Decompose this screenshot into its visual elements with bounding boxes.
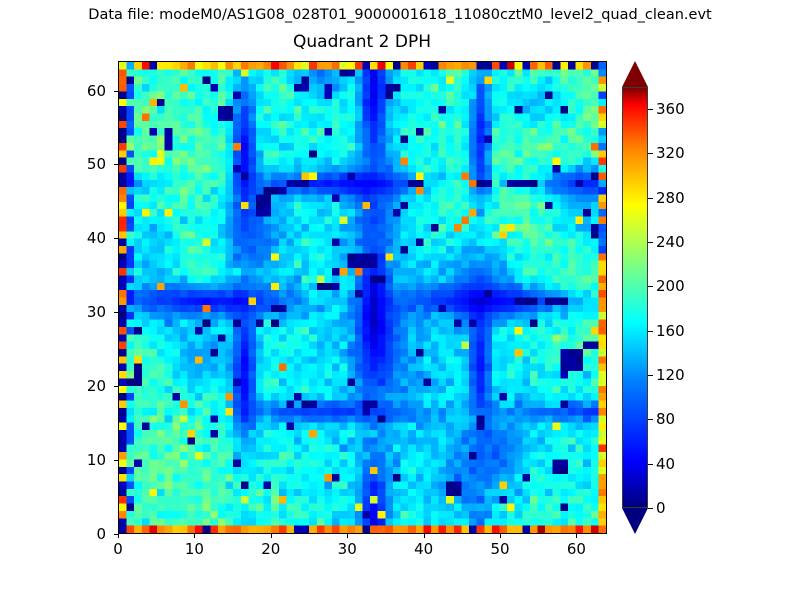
x-tick-mark [424, 534, 425, 538]
colorbar-body [622, 87, 648, 508]
y-tick-mark [114, 460, 118, 461]
colorbar-tick-label: 200 [656, 277, 685, 295]
x-tick-mark [194, 534, 195, 538]
y-tick-mark [114, 386, 118, 387]
colorbar-tick-mark [648, 198, 653, 199]
x-tick-mark [118, 534, 119, 538]
colorbar-over-arrow-icon [622, 61, 648, 87]
colorbar-tick-label: 80 [656, 410, 675, 428]
colorbar: 04080120160200240280320360 [622, 61, 648, 534]
colorbar-tick-mark [648, 508, 653, 509]
x-tick-label: 60 [567, 540, 586, 558]
colorbar-tick-label: 0 [656, 499, 666, 517]
y-tick-mark [114, 164, 118, 165]
x-tick-mark [576, 534, 577, 538]
colorbar-tick-label: 40 [656, 455, 675, 473]
x-tick-label: 10 [185, 540, 204, 558]
y-tick-label: 0 [56, 525, 106, 543]
x-tick-label: 0 [113, 540, 123, 558]
colorbar-tick-mark [648, 242, 653, 243]
y-tick-label: 50 [56, 155, 106, 173]
colorbar-gradient [623, 88, 647, 507]
x-tick-label: 50 [490, 540, 509, 558]
y-tick-mark [114, 312, 118, 313]
x-tick-label: 40 [414, 540, 433, 558]
heatmap-axes [118, 61, 607, 534]
y-tick-mark [114, 91, 118, 92]
x-tick-mark [347, 534, 348, 538]
y-tick-label: 30 [56, 303, 106, 321]
y-tick-label: 20 [56, 377, 106, 395]
data-file-caption: Data file: modeM0/AS1G08_028T01_90000016… [0, 7, 800, 23]
colorbar-tick-mark [648, 153, 653, 154]
detector-heatmap [119, 62, 606, 533]
x-tick-mark [500, 534, 501, 538]
x-tick-mark [271, 534, 272, 538]
page-title: Quadrant 2 DPH [0, 32, 724, 52]
colorbar-tick-mark [648, 375, 653, 376]
colorbar-tick-label: 280 [656, 189, 685, 207]
y-tick-label: 40 [56, 229, 106, 247]
colorbar-tick-mark [648, 286, 653, 287]
colorbar-tick-mark [648, 109, 653, 110]
y-tick-mark [114, 238, 118, 239]
x-tick-label: 20 [261, 540, 280, 558]
colorbar-tick-label: 360 [656, 100, 685, 118]
colorbar-tick-label: 120 [656, 366, 685, 384]
y-tick-label: 60 [56, 82, 106, 100]
colorbar-under-arrow-icon [622, 508, 648, 534]
x-tick-label: 30 [338, 540, 357, 558]
colorbar-tick-label: 320 [656, 144, 685, 162]
colorbar-tick-mark [648, 331, 653, 332]
colorbar-tick-label: 240 [656, 233, 685, 251]
colorbar-tick-mark [648, 464, 653, 465]
colorbar-tick-mark [648, 419, 653, 420]
y-tick-mark [114, 534, 118, 535]
colorbar-tick-label: 160 [656, 322, 685, 340]
y-tick-label: 10 [56, 451, 106, 469]
